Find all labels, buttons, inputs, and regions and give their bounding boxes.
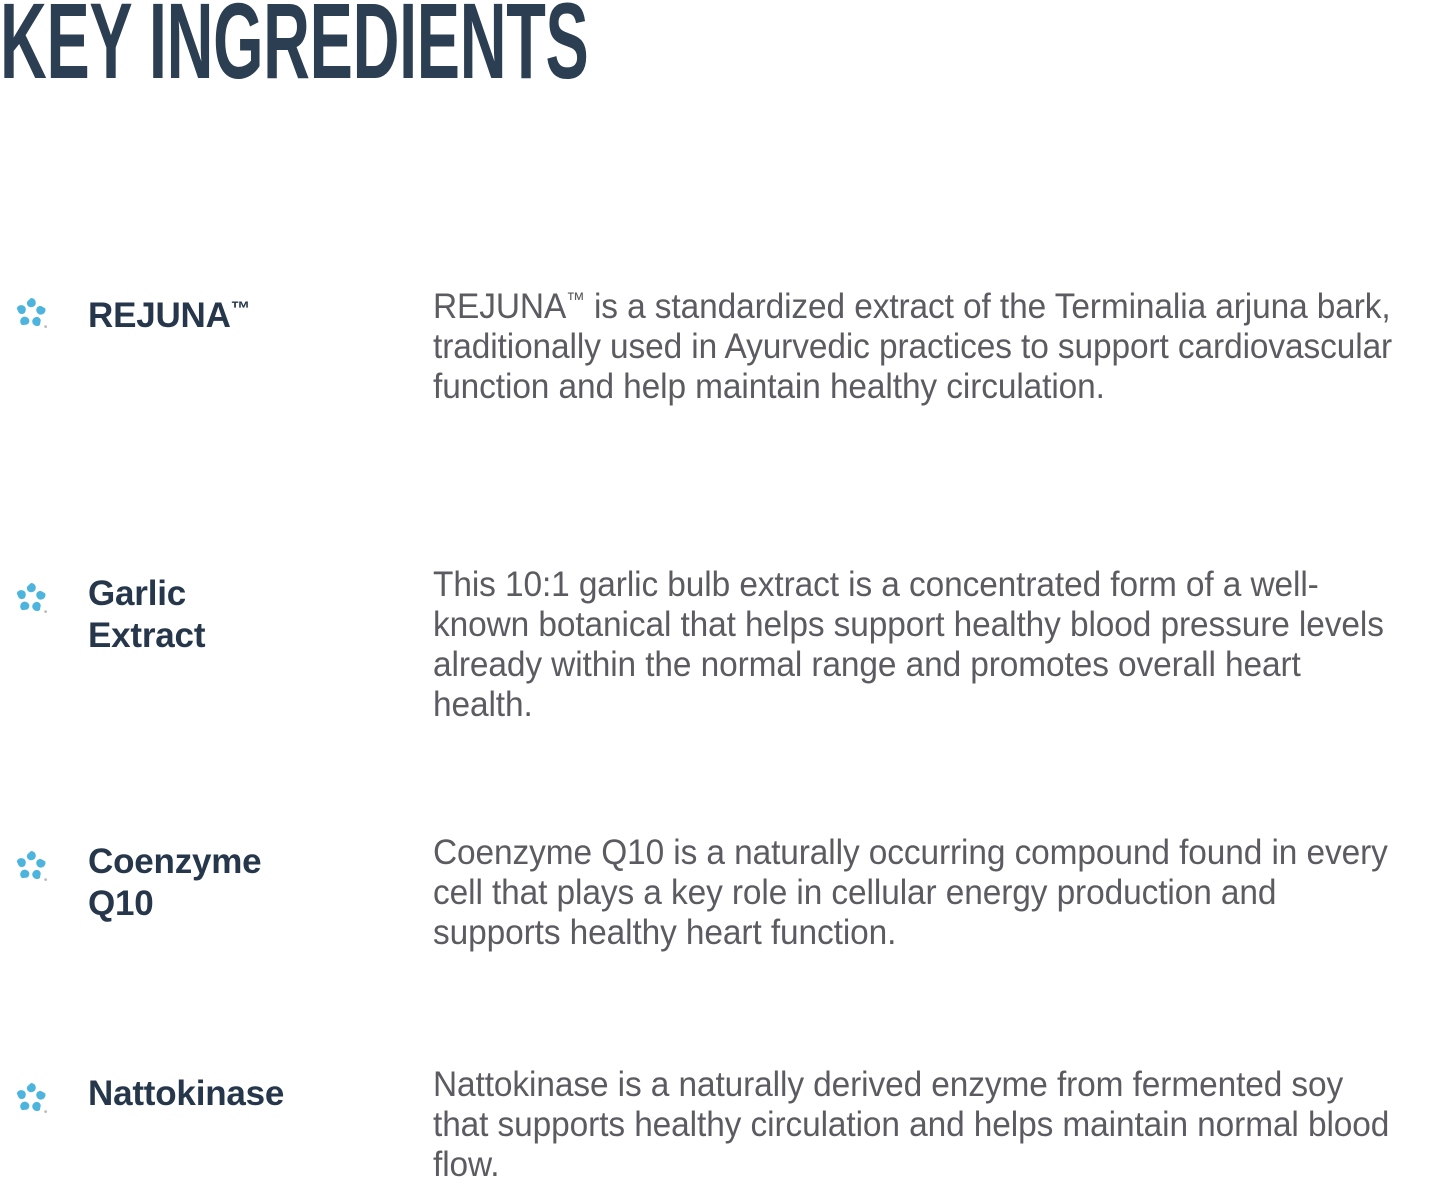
ingredient-name-cell: Garlic Extract bbox=[88, 565, 433, 657]
ingredient-item-garlic-extract: Garlic Extract This 10:1 garlic bulb ext… bbox=[0, 565, 1445, 725]
page-title: KEY INGREDIENTS bbox=[0, 0, 588, 95]
ingredient-description-cell: REJUNA™ is a standardized extract of the… bbox=[433, 280, 1445, 407]
key-ingredients-page: KEY INGREDIENTS bbox=[0, 0, 1445, 1203]
ingredient-name-cell: Nattokinase bbox=[88, 1065, 433, 1115]
description-prefix: REJUNA bbox=[433, 287, 566, 326]
ingredient-item-coenzyme-q10: Coenzyme Q10 Coenzyme Q10 is a naturally… bbox=[0, 833, 1445, 953]
ingredient-name: Nattokinase bbox=[88, 1073, 433, 1115]
ingredient-name: Garlic Extract bbox=[88, 573, 433, 657]
ingredient-name-cell: REJUNA™ bbox=[88, 280, 433, 337]
ingredient-description-cell: Coenzyme Q10 is a naturally occurring co… bbox=[433, 833, 1445, 953]
leaf-ring-icon bbox=[14, 849, 48, 883]
ingredient-icon-cell bbox=[0, 280, 88, 330]
leaf-ring-icon bbox=[14, 296, 48, 330]
ingredient-item-rejuna: REJUNA™ REJUNA™ is a standardized extrac… bbox=[0, 280, 1445, 407]
leaf-ring-icon bbox=[14, 1081, 48, 1115]
ingredient-icon-cell bbox=[0, 833, 88, 883]
ingredient-description: Coenzyme Q10 is a naturally occurring co… bbox=[433, 833, 1397, 953]
ingredient-description: This 10:1 garlic bulb extract is a conce… bbox=[433, 565, 1397, 725]
ingredient-description: Nattokinase is a naturally derived enzym… bbox=[433, 1065, 1397, 1185]
ingredient-name: REJUNA™ bbox=[88, 288, 433, 337]
ingredient-name: Coenzyme Q10 bbox=[88, 841, 433, 925]
ingredient-icon-cell bbox=[0, 1065, 88, 1115]
ingredient-name-cell: Coenzyme Q10 bbox=[88, 833, 433, 925]
trademark-mark: ™ bbox=[566, 289, 585, 311]
leaf-ring-icon bbox=[14, 581, 48, 615]
ingredient-name-text: REJUNA bbox=[88, 296, 231, 335]
trademark-mark: ™ bbox=[231, 298, 251, 320]
ingredient-description: REJUNA™ is a standardized extract of the… bbox=[433, 280, 1397, 407]
ingredient-description-cell: This 10:1 garlic bulb extract is a conce… bbox=[433, 565, 1445, 725]
ingredient-description-cell: Nattokinase is a naturally derived enzym… bbox=[433, 1065, 1445, 1185]
ingredient-icon-cell bbox=[0, 565, 88, 615]
ingredient-item-nattokinase: Nattokinase Nattokinase is a naturally d… bbox=[0, 1065, 1445, 1185]
